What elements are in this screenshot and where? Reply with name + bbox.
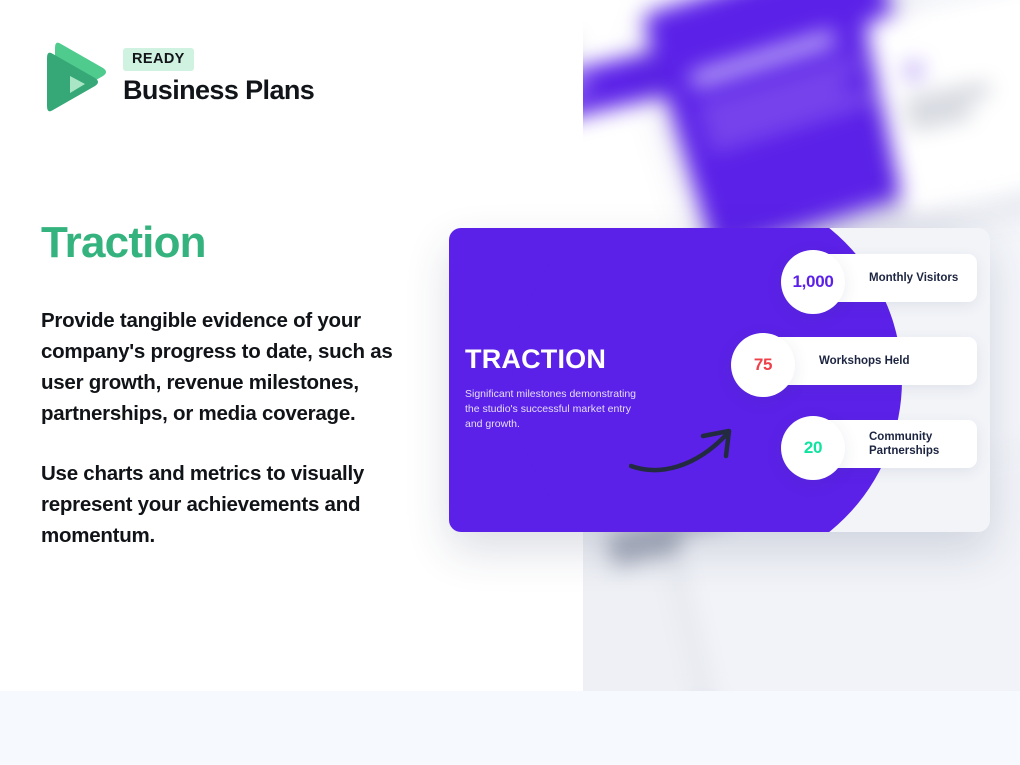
traction-slide-card[interactable]: TRACTION Significant milestones demonstr…	[449, 228, 990, 532]
card-subtitle: Significant milestones demonstrating the…	[465, 387, 651, 432]
metric-pill: Workshops Held	[763, 337, 977, 385]
brand-name: Business Plans	[123, 75, 314, 106]
paragraph-2: Use charts and metrics to visually repre…	[41, 458, 433, 551]
slide-page: READY Business Plans Traction Provide ta…	[0, 0, 1020, 765]
metric-label: Community Partnerships	[869, 430, 977, 458]
paragraph-1: Provide tangible evidence of your compan…	[41, 305, 433, 429]
body-copy: Provide tangible evidence of your compan…	[41, 305, 433, 551]
metric-value: 20	[804, 438, 822, 458]
metric-item[interactable]: Workshops Held 75	[731, 333, 977, 389]
page-title: Traction	[41, 218, 206, 268]
metric-value: 1,000	[792, 272, 833, 292]
metrics-list: Monthly Visitors 1,000 Workshops Held 75…	[717, 250, 977, 472]
metric-circle: 1,000	[781, 250, 845, 314]
card-title: TRACTION	[465, 344, 665, 375]
metric-label: Workshops Held	[819, 354, 910, 368]
metric-label: Monthly Visitors	[869, 271, 958, 285]
metric-item[interactable]: Monthly Visitors 1,000	[781, 250, 977, 306]
metric-circle: 20	[781, 416, 845, 480]
ready-badge: READY	[123, 48, 194, 71]
metric-value: 75	[754, 355, 772, 375]
metric-circle: 75	[731, 333, 795, 397]
metric-item[interactable]: Community Partnerships 20	[781, 416, 977, 472]
bottom-strip	[0, 691, 1020, 765]
play-triangle-logo-icon	[41, 38, 109, 116]
brand-logo[interactable]: READY Business Plans	[41, 38, 314, 116]
